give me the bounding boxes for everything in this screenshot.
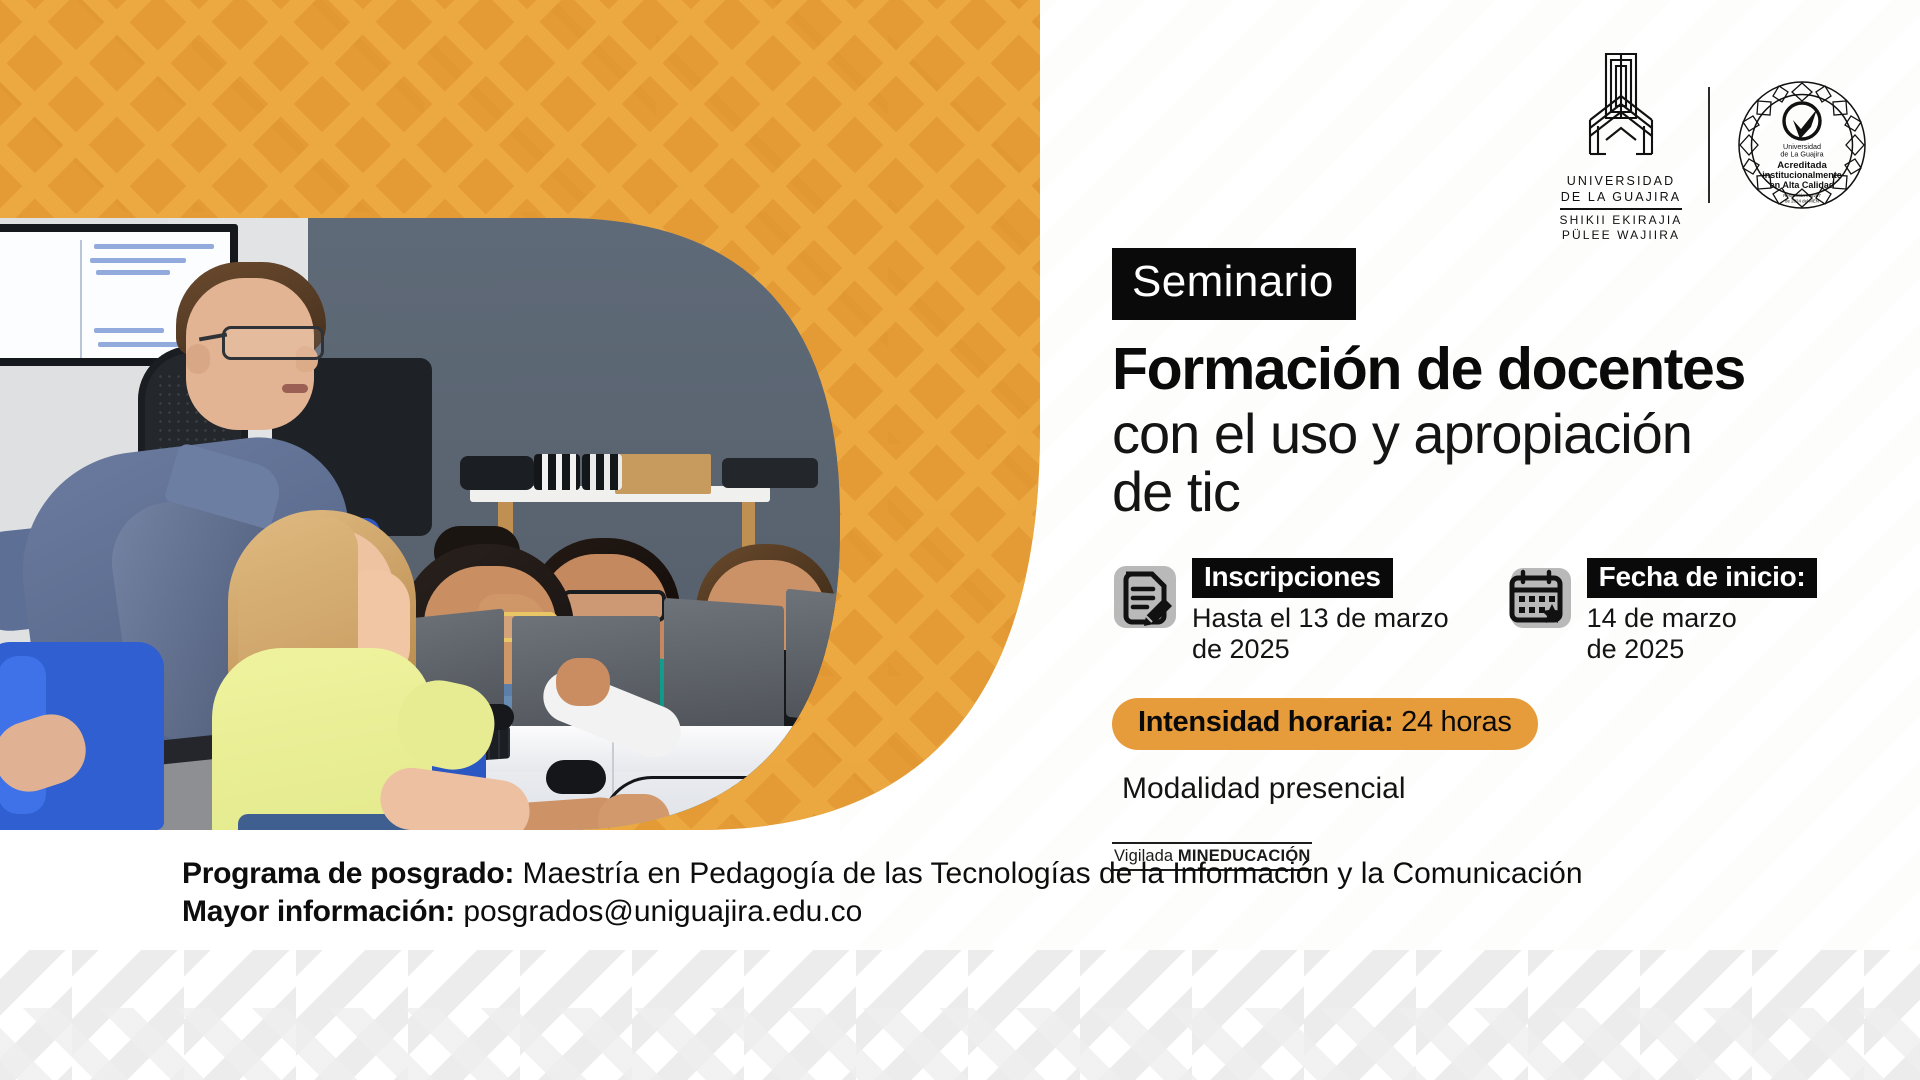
page-subtitle-line1: con el uso y apropiación: [1112, 405, 1872, 463]
display-text-line: [96, 270, 170, 275]
page-title: Formación de docentes: [1112, 340, 1872, 399]
device-case: [582, 454, 622, 490]
university-name-line4: PÜLEE WAJIIRA: [1560, 228, 1683, 243]
display-text-line: [94, 328, 164, 333]
page-subtitle: con el uso y apropiación de tic: [1112, 405, 1872, 520]
university-logo[interactable]: UNIVERSIDAD DE LA GUAJIRA SHIKII EKIRAJI…: [1560, 48, 1683, 243]
logo-divider-rule: [1560, 208, 1683, 209]
wayuu-knot-icon: [1576, 48, 1666, 168]
info-text-fecha-inicio: Fecha de inicio: 14 de marzo de 2025: [1587, 558, 1818, 663]
intensity-value: 24 horas: [1401, 706, 1511, 738]
logo-group: UNIVERSIDAD DE LA GUAJIRA SHIKII EKIRAJI…: [1560, 48, 1868, 243]
content-panel: Seminario Formación de docentes con el u…: [1112, 248, 1872, 871]
info-value-line2: de 2025: [1192, 634, 1449, 664]
vertical-divider-icon: [1708, 87, 1710, 203]
display-text-line: [90, 258, 186, 263]
footer-contact-line: Mayor información: posgrados@uniguajira.…: [182, 893, 1882, 931]
seal-line2: de La Guajira: [1780, 150, 1823, 159]
teacher-ear: [186, 344, 210, 374]
info-value-line1: 14 de marzo: [1587, 603, 1818, 633]
device-case: [722, 458, 818, 488]
university-name-line1: UNIVERSIDAD: [1560, 174, 1683, 190]
laptop-screen: [664, 598, 784, 742]
info-item-inscripciones: Inscripciones Hasta el 13 de marzo de 20…: [1112, 558, 1449, 663]
university-name-line3: SHIKII EKIRAJIA: [1560, 213, 1683, 228]
info-value-line1: Hasta el 13 de marzo: [1192, 603, 1449, 633]
page-subtitle-line2: de tic: [1112, 463, 1872, 521]
footer-program-line: Programa de posgrado: Maestría en Pedago…: [182, 855, 1882, 893]
footer-contact-value[interactable]: posgrados@uniguajira.edu.co: [463, 895, 862, 928]
info-item-fecha-inicio: Fecha de inicio: 14 de marzo de 2025: [1507, 558, 1818, 663]
seal-line4: institucionalmente: [1762, 170, 1842, 180]
seal-resolution2: de 2024 del MEN: [1785, 199, 1819, 204]
seal-resolution1: Resolución 009287: [1783, 193, 1821, 198]
info-text-inscripciones: Inscripciones Hasta el 13 de marzo de 20…: [1192, 558, 1449, 663]
footer: Programa de posgrado: Maestría en Pedago…: [182, 855, 1882, 932]
chevron-pattern-overlay-icon: [0, 1008, 1920, 1080]
info-value: Hasta el 13 de marzo de 2025: [1192, 603, 1449, 663]
modality-text: Modalidad presencial: [1112, 772, 1872, 806]
display-text-line: [94, 244, 214, 249]
calendar-star-icon: [1507, 564, 1573, 630]
document-pencil-icon: [1112, 564, 1178, 630]
info-row: Inscripciones Hasta el 13 de marzo de 20…: [1112, 558, 1872, 663]
device-case: [534, 454, 580, 490]
bottom-pattern-band: [0, 950, 1920, 1080]
university-name-line2: DE LA GUAJIRA: [1560, 190, 1683, 206]
teacher-mouth: [282, 384, 308, 393]
accreditation-seal-icon[interactable]: Universidad de La Guajira Acreditada ins…: [1736, 79, 1868, 211]
event-type-badge: Seminario: [1112, 248, 1356, 320]
teacher-glasses-icon: [222, 326, 324, 360]
info-label: Fecha de inicio:: [1587, 558, 1818, 598]
poster-canvas: UNIVERSIDAD DE LA GUAJIRA SHIKII EKIRAJI…: [0, 0, 1920, 1080]
device-case: [460, 456, 534, 490]
cardboard-box: [615, 454, 711, 494]
intensity-label: Intensidad horaria:: [1138, 706, 1393, 738]
intensity-badge: Intensidad horaria: 24 horas: [1112, 698, 1538, 750]
child-hand: [556, 658, 610, 706]
info-label: Inscripciones: [1192, 558, 1393, 598]
display-divider: [80, 240, 82, 358]
footer-program-label: Programa de posgrado:: [182, 857, 514, 890]
seal-line5: en Alta Calidad: [1770, 180, 1835, 190]
info-value-line2: de 2025: [1587, 634, 1818, 664]
info-value: 14 de marzo de 2025: [1587, 603, 1818, 663]
footer-contact-label: Mayor información:: [182, 895, 455, 928]
footer-program-value: Maestría en Pedagogía de las Tecnologías…: [522, 857, 1582, 890]
university-logo-text: UNIVERSIDAD DE LA GUAJIRA SHIKII EKIRAJI…: [1560, 174, 1683, 243]
